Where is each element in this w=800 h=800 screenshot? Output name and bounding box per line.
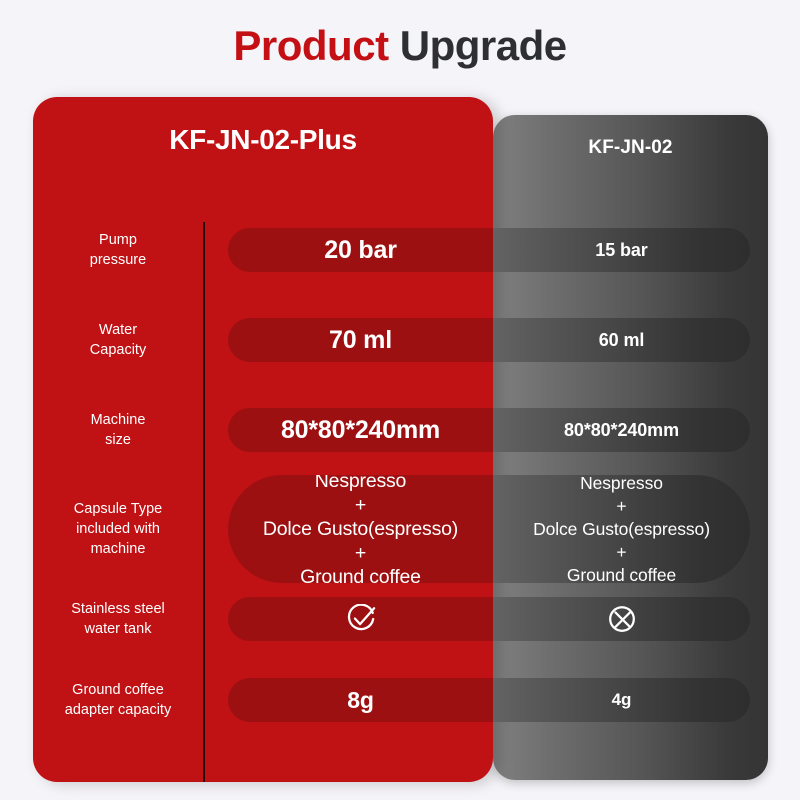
spec-row: Machine size80*80*240mm80*80*240mm bbox=[33, 385, 768, 475]
spec-row: Capsule Type included with machineNespre… bbox=[33, 475, 768, 583]
spec-label: Stainless steel water tank bbox=[33, 599, 203, 639]
comparison-panels: KF-JN-02-Plus KF-JN-02 Pump pressure20 b… bbox=[33, 97, 768, 783]
old-product-value: Nespresso + Dolce Gusto(espresso) + Grou… bbox=[533, 475, 710, 583]
old-product-value-cell bbox=[493, 597, 750, 641]
old-product-value-cell: 15 bar bbox=[493, 228, 750, 272]
spec-row: Water Capacity70 ml60 ml bbox=[33, 295, 768, 385]
spec-label: Machine size bbox=[33, 410, 203, 450]
old-product-value: 80*80*240mm bbox=[564, 418, 679, 442]
spec-row: Stainless steel water tank bbox=[33, 583, 768, 655]
new-product-value-cell: 8g bbox=[228, 678, 493, 722]
spec-value-pill: Nespresso + Dolce Gusto(espresso) + Grou… bbox=[228, 475, 750, 583]
page-title: Product Upgrade bbox=[0, 20, 800, 72]
new-product-value-cell: 70 ml bbox=[228, 318, 493, 362]
page-title-rest: Upgrade bbox=[389, 22, 567, 69]
label-column-divider bbox=[203, 222, 205, 782]
old-product-value-cell: 4g bbox=[493, 678, 750, 722]
spec-label: Capsule Type included with machine bbox=[33, 499, 203, 559]
new-product-value: 8g bbox=[347, 686, 373, 714]
old-product-name: KF-JN-02 bbox=[493, 137, 768, 159]
spec-rows: Pump pressure20 bar15 barWater Capacity7… bbox=[33, 205, 768, 745]
spec-value-pill bbox=[228, 597, 750, 641]
spec-row: Pump pressure20 bar15 bar bbox=[33, 205, 768, 295]
new-product-value-cell: 80*80*240mm bbox=[228, 408, 493, 452]
product-upgrade-infographic: Product Upgrade KF-JN-02-Plus KF-JN-02 P… bbox=[0, 0, 800, 800]
spec-row: Ground coffee adapter capacity8g4g bbox=[33, 655, 768, 745]
new-product-value-cell: Nespresso + Dolce Gusto(espresso) + Grou… bbox=[228, 475, 493, 583]
old-product-value-cell: 60 ml bbox=[493, 318, 750, 362]
old-product-value: 60 ml bbox=[599, 328, 645, 352]
spec-value-pill: 70 ml60 ml bbox=[228, 318, 750, 362]
new-product-value: Nespresso + Dolce Gusto(espresso) + Grou… bbox=[263, 475, 458, 583]
new-product-value: 80*80*240mm bbox=[281, 416, 440, 444]
new-product-value: 20 bar bbox=[324, 236, 396, 264]
old-product-value-cell: 80*80*240mm bbox=[493, 408, 750, 452]
spec-value-pill: 8g4g bbox=[228, 678, 750, 722]
spec-value-pill: 20 bar15 bar bbox=[228, 228, 750, 272]
spec-label: Water Capacity bbox=[33, 320, 203, 360]
spec-value-pill: 80*80*240mm80*80*240mm bbox=[228, 408, 750, 452]
old-product-value: 4g bbox=[612, 688, 632, 712]
old-product-value-cell: Nespresso + Dolce Gusto(espresso) + Grou… bbox=[493, 475, 750, 583]
new-product-value: 70 ml bbox=[329, 326, 392, 354]
check-circle-icon bbox=[346, 604, 376, 634]
spec-label: Pump pressure bbox=[33, 230, 203, 270]
cross-circle-icon bbox=[607, 604, 637, 634]
new-product-value-cell bbox=[228, 597, 493, 641]
page-title-highlight: Product bbox=[233, 22, 388, 69]
new-product-name: KF-JN-02-Plus bbox=[33, 124, 493, 156]
new-product-value-cell: 20 bar bbox=[228, 228, 493, 272]
spec-label: Ground coffee adapter capacity bbox=[33, 680, 203, 720]
old-product-value: 15 bar bbox=[595, 238, 647, 262]
